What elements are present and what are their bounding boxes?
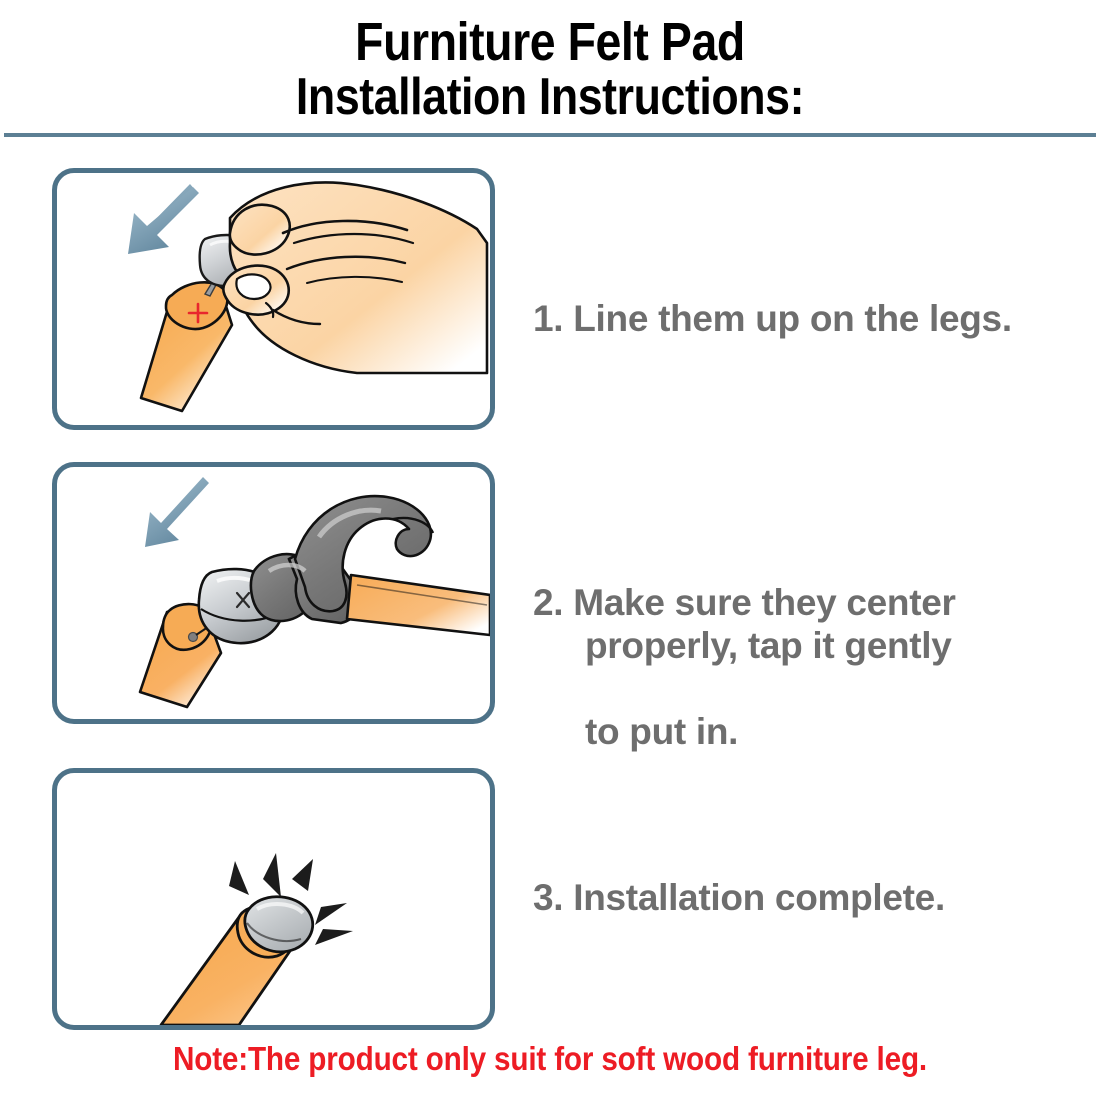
step-2-text: 2. Make sure they center properly, tap i… <box>533 538 1078 796</box>
illustration-hand-placing-pad <box>57 173 490 425</box>
furniture-leg <box>141 282 232 411</box>
illustration-panel-step-2 <box>52 462 495 724</box>
illustration-completed-installation <box>57 773 490 1025</box>
instruction-sheet: Furniture Felt Pad Installation Instruct… <box>0 0 1100 1100</box>
page-title-line-1: Furniture Felt Pad <box>77 14 1023 70</box>
step-2-line-3: to put in. <box>533 710 1078 753</box>
step-2-line-2: properly, tap it gently <box>533 624 1078 667</box>
product-note: Note:The product only suit for soft wood… <box>55 1040 1045 1078</box>
step-1-text: 1. Line them up on the legs. <box>533 297 1078 340</box>
page-title-line-2: Installation Instructions: <box>77 70 1023 124</box>
header: Furniture Felt Pad Installation Instruct… <box>0 0 1100 132</box>
installed-felt-pad <box>245 897 313 952</box>
press-arrow-icon <box>145 477 209 547</box>
illustration-hammer-tapping-pad <box>57 467 490 719</box>
step-2-line-1: 2. Make sure they center <box>533 582 956 623</box>
step-3-text: 3. Installation complete. <box>533 876 1078 919</box>
header-divider <box>4 133 1096 137</box>
illustration-panel-step-1 <box>52 168 495 430</box>
hammer <box>251 496 490 635</box>
press-arrow-icon <box>128 184 199 254</box>
hand <box>223 182 487 373</box>
illustration-panel-step-3 <box>52 768 495 1030</box>
